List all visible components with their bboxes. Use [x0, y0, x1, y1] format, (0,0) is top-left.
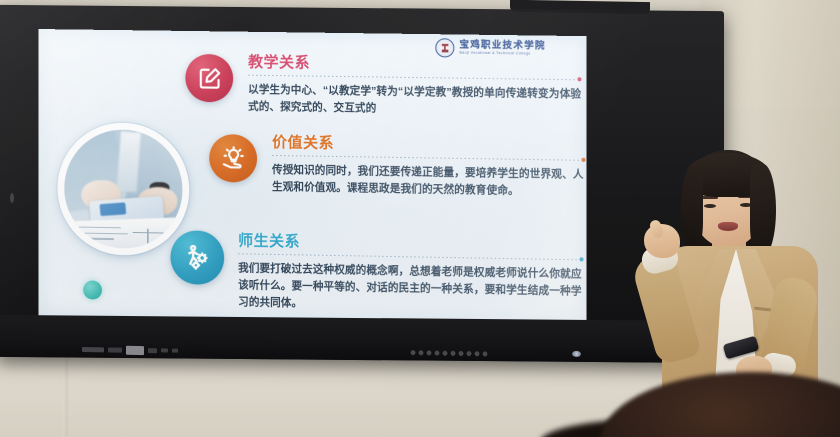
presenter-hair-left: [681, 166, 703, 250]
block-heading: 师生关系: [238, 233, 583, 256]
slide-photo-frame: [57, 122, 189, 257]
presenter-mouth: [718, 222, 738, 231]
presentation-slide[interactable]: 宝鸡职业技术学院 Baoji Vocational & Technical Co…: [39, 29, 587, 328]
wall-seam: [64, 352, 67, 437]
display-camera-nub: [510, 0, 650, 14]
college-logo: 宝鸡职业技术学院 Baoji Vocational & Technical Co…: [435, 38, 545, 59]
interactive-flat-panel-display[interactable]: 宝鸡职业技术学院 Baoji Vocational & Technical Co…: [0, 5, 724, 363]
college-emblem-icon: [435, 38, 454, 57]
display-side-sensor: [10, 193, 14, 203]
person-gears-icon: [170, 230, 224, 285]
college-name-en: Baoji Vocational & Technical College: [459, 52, 545, 57]
presenter-person: [640, 150, 840, 400]
lightbulb-on-hand-icon: [209, 134, 257, 183]
block-heading: 教学关系: [248, 55, 581, 76]
content-block-value: 价值关系 传授知识的同时，我们还要传递正能量，要培养学生的世界观、人生观和价值观…: [209, 134, 585, 140]
block-paragraph: 我们要打破过去这种权威的概念啊，总想着老师是权威老师说什么你就应该听什么。要一种…: [238, 260, 583, 318]
presenter-hair-right: [750, 164, 776, 256]
college-name-cn: 宝鸡职业技术学院: [459, 41, 545, 52]
slide-photo: [64, 129, 182, 249]
edit-pencil-icon: [185, 54, 233, 103]
classroom-scene: 宝鸡职业技术学院 Baoji Vocational & Technical Co…: [0, 0, 840, 437]
display-port-panel[interactable]: [82, 343, 212, 357]
ir-indicator-icon: [572, 351, 581, 357]
speaker-grille: [409, 348, 489, 358]
content-block-teacher-student: 师生关系 我们要打破过去这种权威的概念啊，总想着老师是权威老师说什么你就应该听什…: [170, 230, 583, 237]
display-bottom-bezel: [0, 315, 724, 363]
block-paragraph: 传授知识的同时，我们还要传递正能量，要培养学生的世界观、人生观和价值观。课程思政…: [272, 161, 586, 200]
block-paragraph: 以学生为中心、“以教定学”转为“以学定教”教授的单向传递转变为体验式的、探究式的…: [248, 81, 581, 120]
decorative-teal-dot: [83, 280, 102, 299]
usb-port[interactable]: [126, 345, 144, 354]
block-heading: 价值关系: [272, 135, 586, 156]
